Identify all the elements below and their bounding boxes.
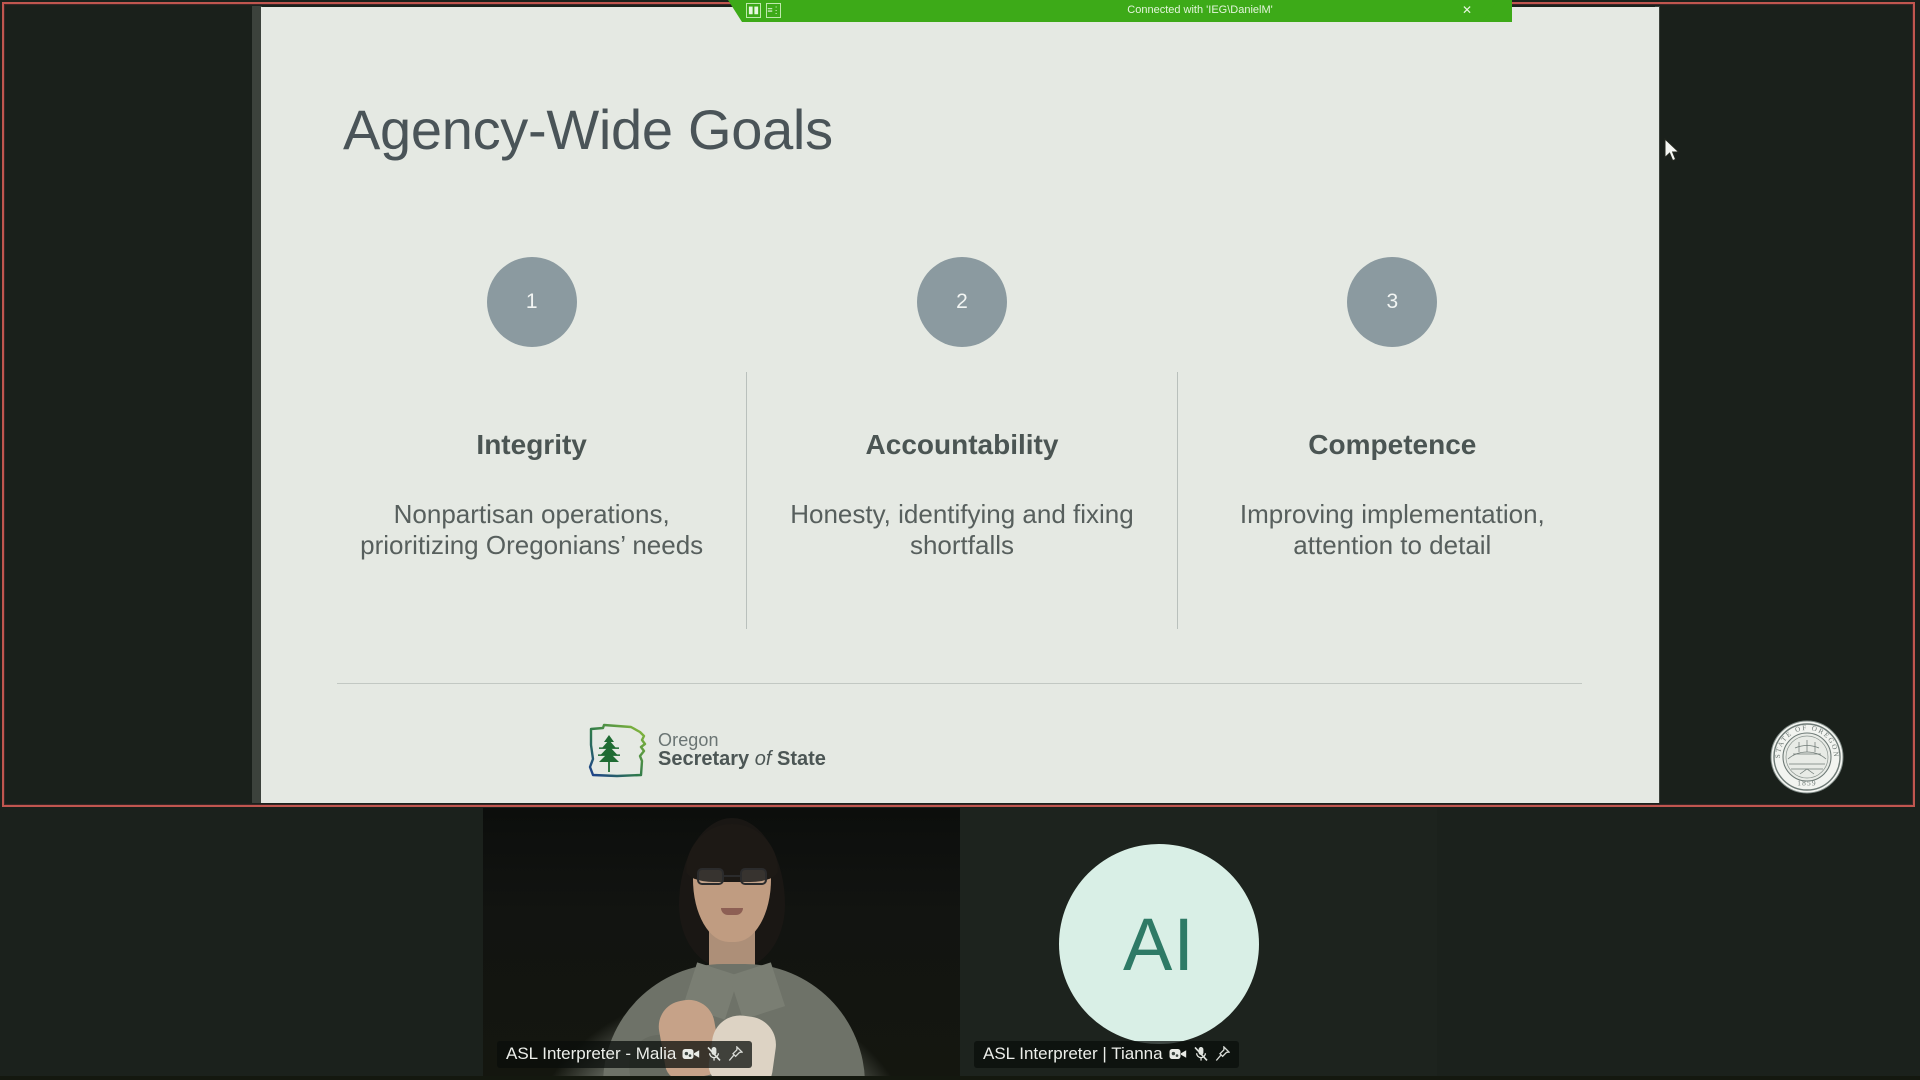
portrait-glasses <box>696 868 768 885</box>
avatar: AI <box>1059 844 1259 1044</box>
goal-body-1: Nonpartisan operations, prioritizing Ore… <box>343 499 720 562</box>
remote-desktop-background-right <box>1660 6 1913 803</box>
goal-heading-2: Accountability <box>866 429 1059 461</box>
remote-meeting-screen: Agency-Wide Goals 1 Integrity Nonpartisa… <box>0 0 1920 1080</box>
seal-year: 1859 <box>1797 779 1817 788</box>
logo-word-of: of <box>755 748 772 770</box>
glasses-bridge <box>724 875 740 877</box>
oregon-secretary-of-state-logo: Oregon Secretary of State <box>587 723 826 778</box>
oregon-state-outline-icon <box>587 723 649 778</box>
goal-heading-1: Integrity <box>476 429 586 461</box>
pine-tree-icon <box>598 735 620 772</box>
goals-columns: 1 Integrity Nonpartisan operations, prio… <box>317 257 1607 677</box>
connection-status-text: Connected with 'IEG\DanielM' <box>1030 4 1370 16</box>
footer-divider-rule <box>337 683 1582 684</box>
send-keys-icon[interactable]: ≡⋮ <box>766 3 781 18</box>
close-icon[interactable]: ✕ <box>1462 3 1472 17</box>
participant-video-feed <box>483 808 960 1080</box>
goal-body-2: Honesty, identifying and fixing shortfal… <box>773 499 1150 562</box>
logo-word-secretary: Secretary <box>658 748 749 770</box>
participant-name-label: ASL Interpreter - Malia <box>506 1044 676 1064</box>
remote-session-banner[interactable]: ▮▮ ≡⋮ Connected with 'IEG\DanielM' ✕ <box>712 0 1512 22</box>
goal-body-3: Improving implementation, attention to d… <box>1204 499 1581 562</box>
goal-number-badge-2: 2 <box>917 257 1007 347</box>
logo-wordmark: Oregon Secretary of State <box>658 731 826 771</box>
portrait-mouth <box>721 908 743 915</box>
participant-nameplate-malia: ASL Interpreter - Malia <box>497 1041 752 1068</box>
goal-heading-3: Competence <box>1308 429 1476 461</box>
mic-muted-icon[interactable] <box>1194 1046 1208 1062</box>
glasses-lens-left <box>697 868 724 885</box>
mouse-cursor <box>1664 138 1682 164</box>
pin-icon[interactable] <box>1215 1046 1230 1062</box>
goal-column-2: 2 Accountability Honesty, identifying an… <box>747 257 1176 677</box>
goal-number-badge-3: 3 <box>1347 257 1437 347</box>
goal-column-1: 1 Integrity Nonpartisan operations, prio… <box>317 257 746 677</box>
goal-number-badge-1: 1 <box>487 257 577 347</box>
mic-muted-icon[interactable] <box>707 1046 721 1062</box>
video-on-icon[interactable] <box>682 1047 700 1061</box>
nameplate-icons <box>1169 1046 1230 1062</box>
presentation-slide: Agency-Wide Goals 1 Integrity Nonpartisa… <box>261 7 1659 803</box>
video-tile-tianna[interactable]: AI ASL Interpreter | Tianna <box>960 808 1437 1080</box>
logo-line-secretary-of-state: Secretary of State <box>658 749 826 770</box>
page-title: Agency-Wide Goals <box>343 97 833 162</box>
pin-icon[interactable] <box>728 1046 743 1062</box>
participant-filmstrip: ASL Interpreter - Malia <box>0 808 1920 1080</box>
avatar-initials: AI <box>1123 902 1195 987</box>
goal-column-3: 3 Competence Improving implementation, a… <box>1178 257 1607 677</box>
collapse-pin-icon[interactable]: ▮▮ <box>746 3 761 18</box>
filmstrip-bottom-edge <box>0 1076 1920 1080</box>
nameplate-icons <box>682 1046 743 1062</box>
state-of-oregon-seal: STATE OF OREGON 1859 <box>1769 719 1845 795</box>
participant-name-label: ASL Interpreter | Tianna <box>983 1044 1163 1064</box>
logo-line-oregon: Oregon <box>658 731 826 750</box>
remote-desktop-background-left <box>5 6 258 803</box>
glasses-lens-right <box>740 868 767 885</box>
video-tile-malia[interactable]: ASL Interpreter - Malia <box>483 808 960 1080</box>
participant-nameplate-tianna: ASL Interpreter | Tianna <box>974 1041 1239 1068</box>
video-on-icon[interactable] <box>1169 1047 1187 1061</box>
logo-word-state: State <box>777 748 826 770</box>
